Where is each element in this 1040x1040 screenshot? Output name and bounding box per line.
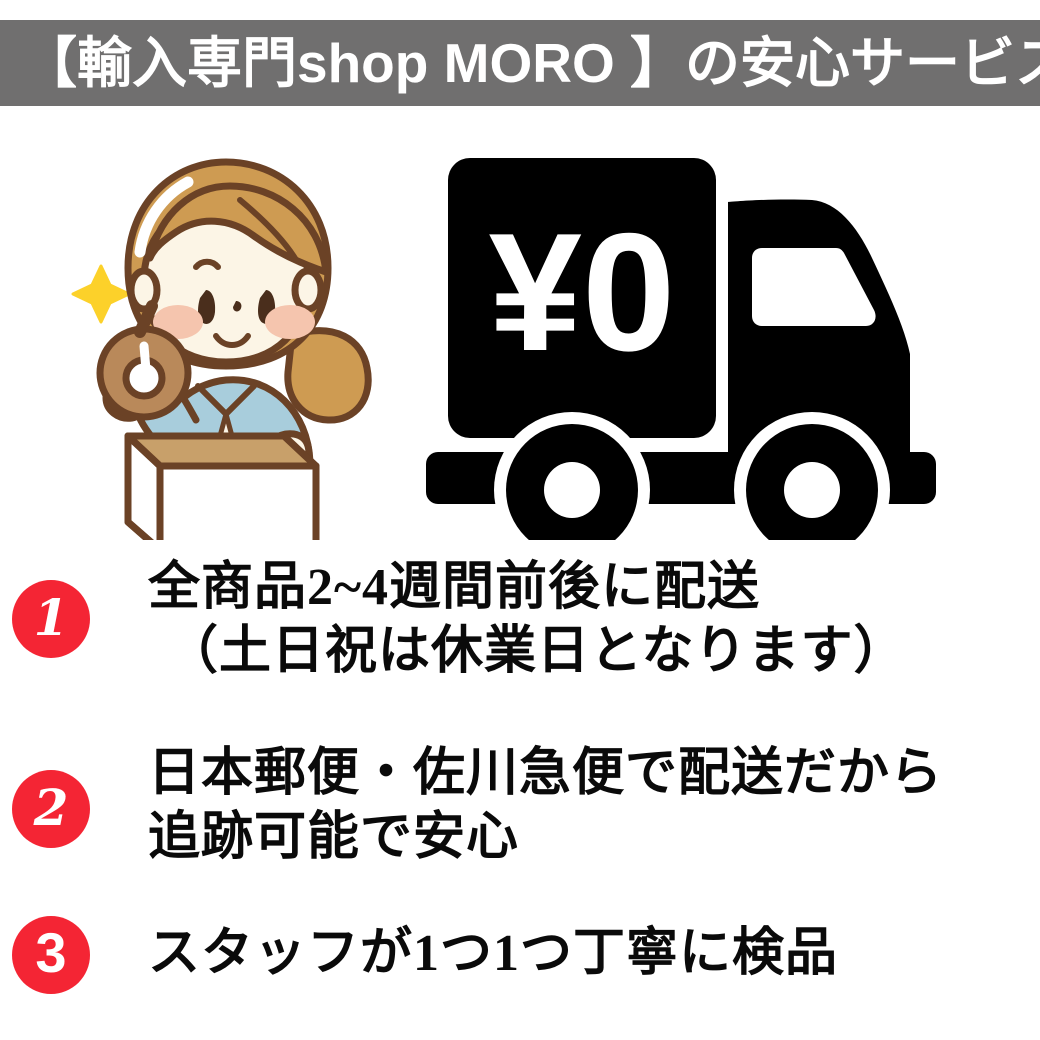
- service-badge-1: 1: [12, 580, 90, 658]
- service-item-2-text: 日本郵便・佐川急便で配送だから 追跡可能で安心: [148, 742, 943, 870]
- service-item-1-line-1: 全商品2~4週間前後に配送: [148, 556, 906, 620]
- service-item-3: 3 スタッフが1つ1つ丁寧に検品: [0, 908, 1040, 1038]
- service-item-1-text: 全商品2~4週間前後に配送 （土日祝は休業日となります）: [148, 556, 906, 684]
- service-badge-3: 3: [12, 916, 90, 994]
- service-badge-2: 2: [12, 770, 90, 848]
- page-title: 【輸入専門shop MORO 】の安心サービス: [0, 20, 1040, 106]
- service-item-2-line-2: 追跡可能で安心: [148, 806, 943, 870]
- service-item-2-line-1: 日本郵便・佐川急便で配送だから: [148, 742, 943, 806]
- illustration-band: ¥0: [0, 120, 1040, 540]
- service-item-3-text: スタッフが1つ1つ丁寧に検品: [148, 922, 838, 986]
- service-item-3-line-1: スタッフが1つ1つ丁寧に検品: [148, 922, 838, 986]
- delivery-truck-icon: ¥0: [420, 140, 1020, 540]
- service-item-2: 2 日本郵便・佐川急便で配送だから 追跡可能で安心: [0, 738, 1040, 908]
- service-item-1: 1 全商品2~4週間前後に配送 （土日祝は休業日となります）: [0, 548, 1040, 738]
- service-list: 1 全商品2~4週間前後に配送 （土日祝は休業日となります） 2 日本郵便・佐川…: [0, 548, 1040, 1040]
- sparkle-icon: [73, 266, 129, 322]
- header-banner: 【輸入専門shop MORO 】の安心サービス: [0, 20, 1040, 106]
- service-item-1-line-2: （土日祝は休業日となります）: [148, 620, 906, 684]
- free-shipping-label: ¥0: [489, 198, 676, 386]
- page-root: 【輸入専門shop MORO 】の安心サービス: [0, 0, 1040, 1040]
- staff-inspecting-box-illustration: [40, 140, 400, 540]
